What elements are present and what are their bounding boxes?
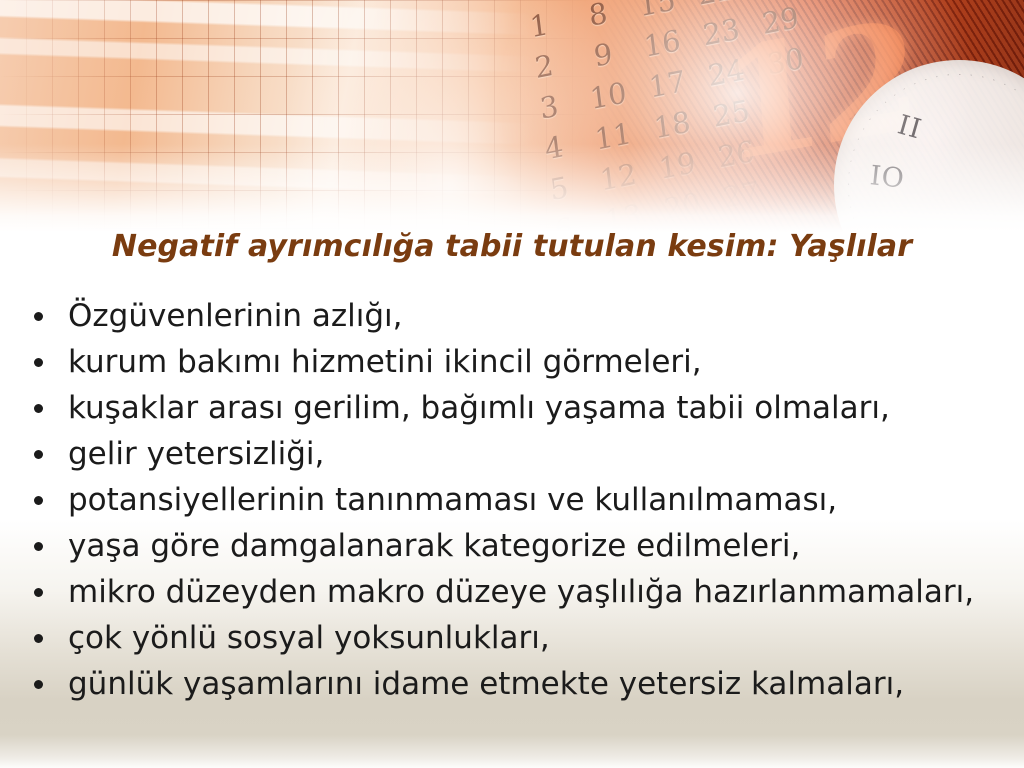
list-item: potansiyellerinin tanınmaması ve kullanı… [26, 477, 1006, 523]
list-item: kuşaklar arası gerilim, bağımlı yaşama t… [26, 385, 1006, 431]
list-item-label: kurum bakımı hizmetini ikincil görmeleri… [68, 344, 702, 380]
list-item: yaşa göre damgalanarak kategorize edilme… [26, 523, 1006, 569]
list-item-label: potansiyellerinin tanınmaması ve kullanı… [68, 482, 837, 518]
bullet-dot-icon [34, 496, 43, 505]
list-item: mikro düzeyden makro düzeye yaşlılığa ha… [26, 569, 1006, 615]
bullet-list: Özgüvenlerinin azlığı, kurum bakımı hizm… [26, 293, 1006, 707]
bullet-dot-icon [34, 358, 43, 367]
list-item: çok yönlü sosyal yoksunlukları, [26, 615, 1006, 661]
list-item: kurum bakımı hizmetini ikincil görmeleri… [26, 339, 1006, 385]
list-item: Özgüvenlerinin azlığı, [26, 293, 1006, 339]
list-item: günlük yaşamlarını idame etmekte yetersi… [26, 661, 1006, 707]
bullet-dot-icon [34, 312, 43, 321]
list-item: gelir yetersizliği, [26, 431, 1006, 477]
bullet-dot-icon [34, 450, 43, 459]
list-item-label: Özgüvenlerinin azlığı, [68, 298, 403, 334]
header-banner-image: 1 8 15 22 28 2 9 16 23 29 3 10 17 24 30 … [0, 0, 1024, 232]
bullet-dot-icon [34, 542, 43, 551]
presentation-slide: 1 8 15 22 28 2 9 16 23 29 3 10 17 24 30 … [0, 0, 1024, 768]
list-item-label: gelir yetersizliği, [68, 436, 324, 472]
slide-title: Negatif ayrımcılığa tabii tutulan kesim:… [0, 229, 1024, 264]
bullet-dot-icon [34, 588, 43, 597]
bullet-dot-icon [34, 680, 43, 689]
list-item-label: çok yönlü sosyal yoksunlukları, [68, 620, 550, 656]
list-item-label: mikro düzeyden makro düzeye yaşlılığa ha… [68, 574, 974, 610]
banner-bottom-fade [0, 0, 1024, 232]
list-item-label: kuşaklar arası gerilim, bağımlı yaşama t… [68, 390, 890, 426]
bullet-dot-icon [34, 634, 43, 643]
bullet-dot-icon [34, 404, 43, 413]
list-item-label: yaşa göre damgalanarak kategorize edilme… [68, 528, 800, 564]
list-item-label: günlük yaşamlarını idame etmekte yetersi… [68, 666, 904, 702]
